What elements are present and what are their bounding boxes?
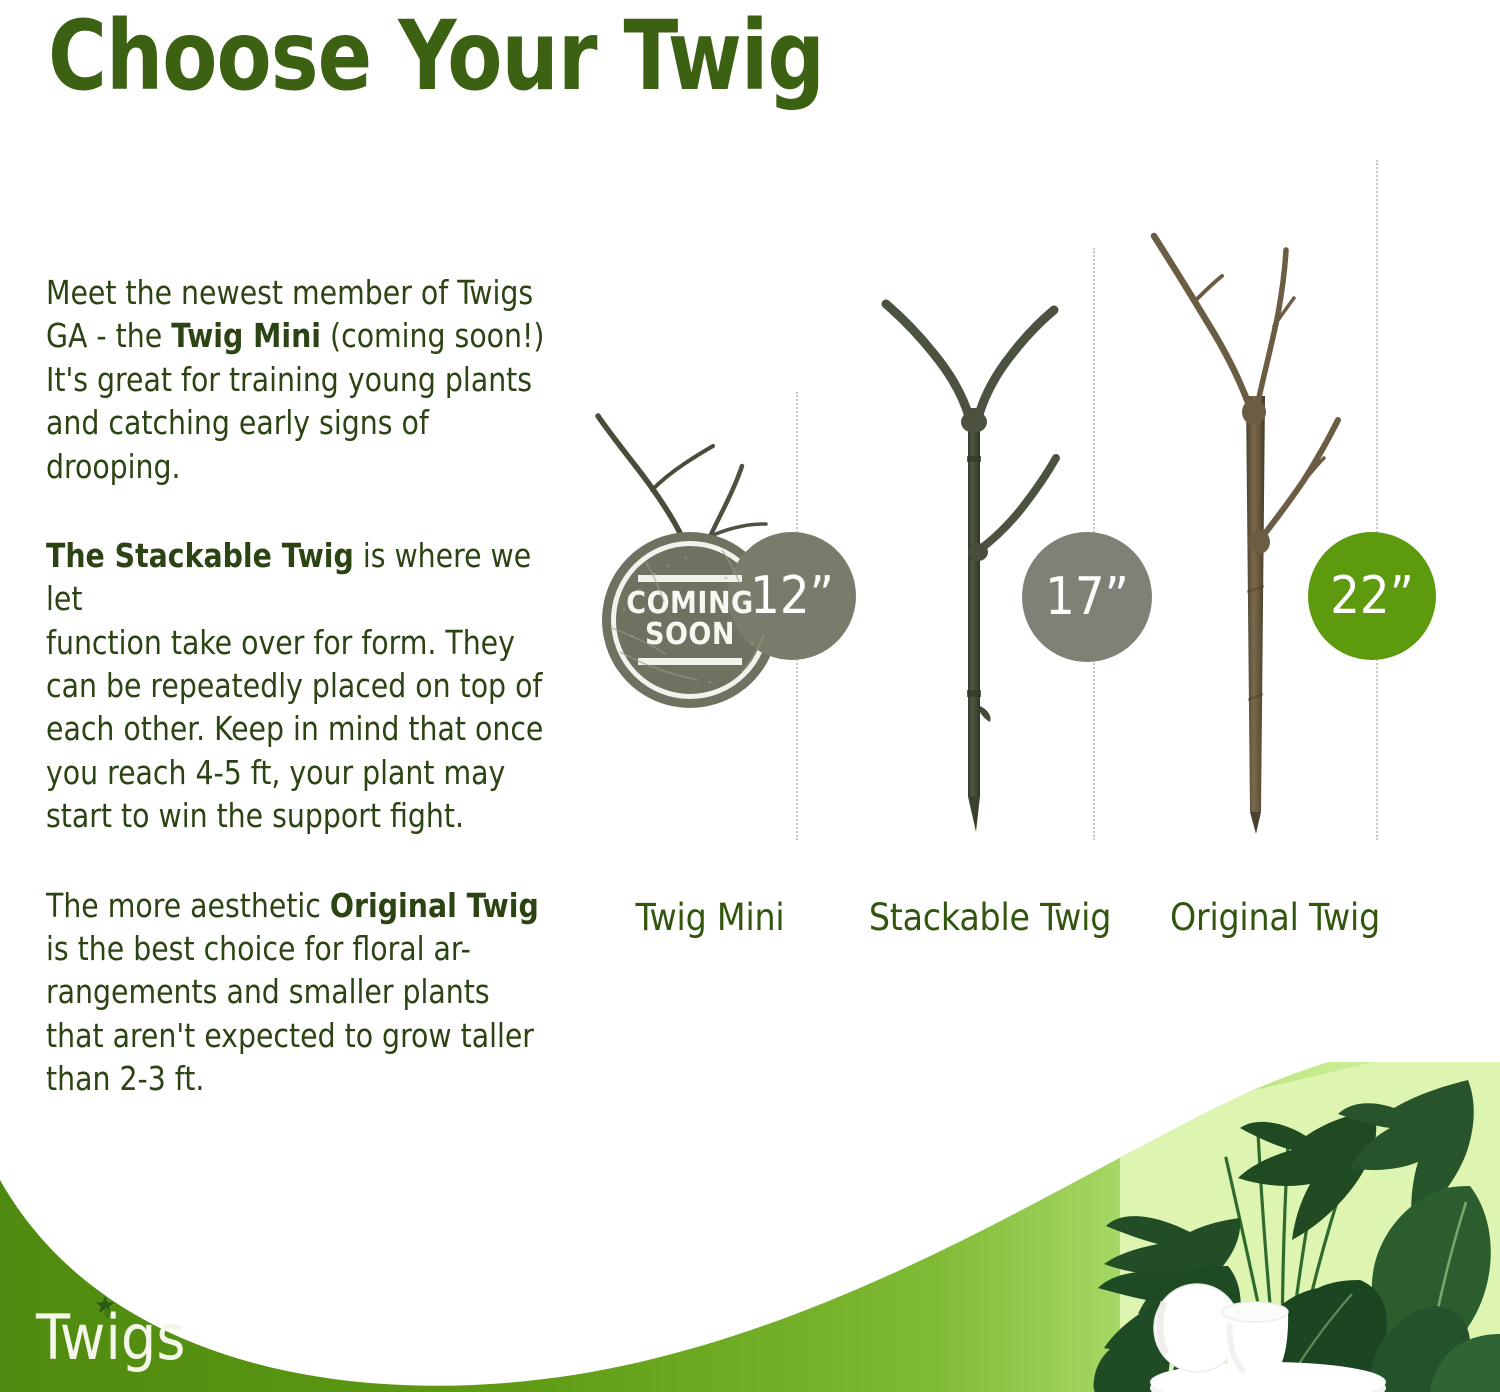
description-copy: Meet the newest member of Twigs GA - the… <box>46 272 550 1101</box>
coming-soon-label: COMING SOON <box>626 589 753 650</box>
product-label-twig-mini: Twig Mini <box>560 896 860 939</box>
product-label-original-twig: Original Twig <box>1125 896 1425 939</box>
page-title: Choose Your Twig <box>48 6 824 107</box>
original-twig-image <box>1140 140 1400 840</box>
paragraph-stackable: The Stackable Twig is where we letfuncti… <box>46 535 550 839</box>
infographic-page: Choose Your Twig Meet the newest member … <box>0 0 1500 1392</box>
leaf-icon <box>88 1292 122 1326</box>
wave-graphic <box>0 1062 1500 1392</box>
product-label-stackable-twig: Stackable Twig <box>840 896 1140 939</box>
stackable-twig-image <box>860 220 1120 840</box>
paragraph-intro: Meet the newest member of Twigs GA - the… <box>46 272 550 489</box>
footer-wave-band: Twigs <box>0 1062 1500 1392</box>
size-badge-original-twig: 22” <box>1308 532 1436 660</box>
size-badge-stackable-twig: 17” <box>1022 532 1152 662</box>
product-comparison: COMING SOON 12” <box>580 120 1480 960</box>
coming-soon-rule-top <box>638 575 742 582</box>
coming-soon-rule-bottom <box>638 658 742 665</box>
